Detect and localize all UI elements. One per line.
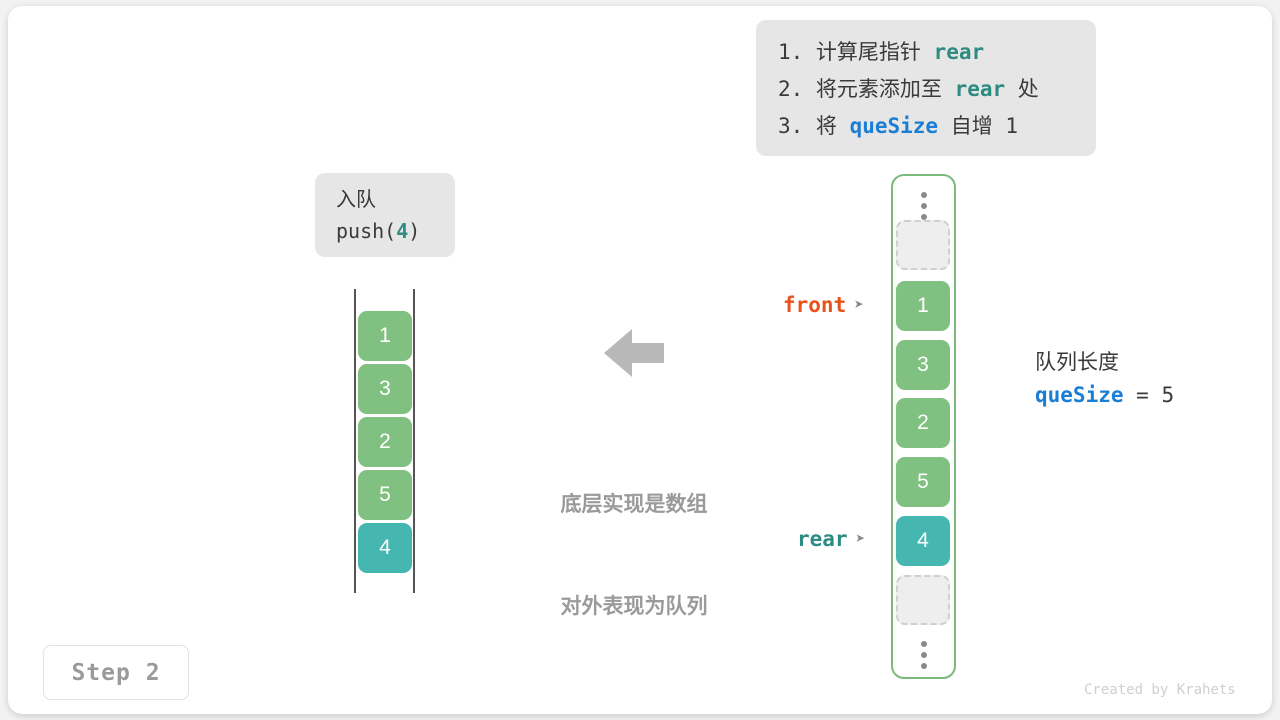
figure-card: 1. 计算尾指针 rear 2. 将元素添加至 rear 处 3. 将 queS… (8, 6, 1272, 714)
step-line-3: 3. 将 queSize 自增 1 (778, 108, 1076, 145)
array-cell: 5 (896, 457, 950, 507)
front-pointer-text: front (783, 293, 846, 317)
operation-call-prefix: push( (336, 219, 396, 243)
array-cell: 3 (896, 340, 950, 390)
step-line-2: 2. 将元素添加至 rear 处 (778, 71, 1076, 108)
size-info-expression: queSize = 5 (1035, 378, 1174, 412)
queue-cell: 2 (358, 417, 412, 467)
array-cell (896, 220, 950, 270)
figure-canvas: 1. 计算尾指针 rear 2. 将元素添加至 rear 处 3. 将 queS… (0, 0, 1280, 720)
size-info-title: 队列长度 (1035, 347, 1174, 378)
queue-rail-left (354, 289, 356, 593)
step-2-prefix: 2. 将元素添加至 (778, 77, 955, 101)
step-3-suffix: 自增 1 (938, 114, 1018, 138)
operation-call-suffix: ) (408, 219, 420, 243)
step-1-code: rear (934, 40, 985, 64)
array-cell: 4 (896, 516, 950, 566)
center-note-line-1: 底层实现是数组 (536, 488, 732, 522)
queue-cell: 4 (358, 523, 412, 573)
step-3-prefix: 3. 将 (778, 114, 850, 138)
array-cell (896, 575, 950, 625)
queue-cell: 1 (358, 311, 412, 361)
step-line-1: 1. 计算尾指针 rear (778, 34, 1076, 71)
size-info: 队列长度 queSize = 5 (1035, 347, 1174, 412)
step-2-suffix: 处 (1005, 77, 1039, 101)
steps-callout: 1. 计算尾指针 rear 2. 将元素添加至 rear 处 3. 将 queS… (756, 20, 1096, 156)
step-badge: Step 2 (43, 645, 189, 700)
rear-arrow-icon: ➤ (856, 529, 866, 548)
logical-queue: 1 3 2 5 4 (353, 289, 417, 593)
size-info-variable: queSize (1035, 383, 1124, 407)
step-3-code: queSize (850, 114, 939, 138)
front-pointer-label: front➤ (783, 293, 864, 317)
size-info-value: = 5 (1124, 383, 1175, 407)
operation-title: 入队 (336, 185, 455, 215)
transform-arrow-icon (604, 326, 664, 380)
array-bottom-ellipsis-icon (921, 641, 927, 674)
array-cell: 2 (896, 398, 950, 448)
physical-array: 1 3 2 5 4 (891, 174, 956, 679)
center-note: 底层实现是数组 对外表现为队列 (536, 420, 732, 692)
rear-pointer-label: rear➤ (797, 527, 865, 551)
queue-cell: 5 (358, 470, 412, 520)
operation-callout: 入队 push(4) (315, 173, 455, 257)
center-note-line-2: 对外表现为队列 (536, 590, 732, 624)
step-2-code: rear (955, 77, 1006, 101)
rear-pointer-text: rear (797, 527, 848, 551)
operation-call-value: 4 (396, 219, 408, 243)
queue-rail-right (413, 289, 415, 593)
credit-text: Created by Krahets (1084, 682, 1236, 698)
front-arrow-icon: ➤ (854, 295, 864, 314)
operation-call: push(4) (336, 215, 455, 247)
queue-cell: 3 (358, 364, 412, 414)
step-1-prefix: 1. 计算尾指针 (778, 40, 934, 64)
array-cell: 1 (896, 281, 950, 331)
